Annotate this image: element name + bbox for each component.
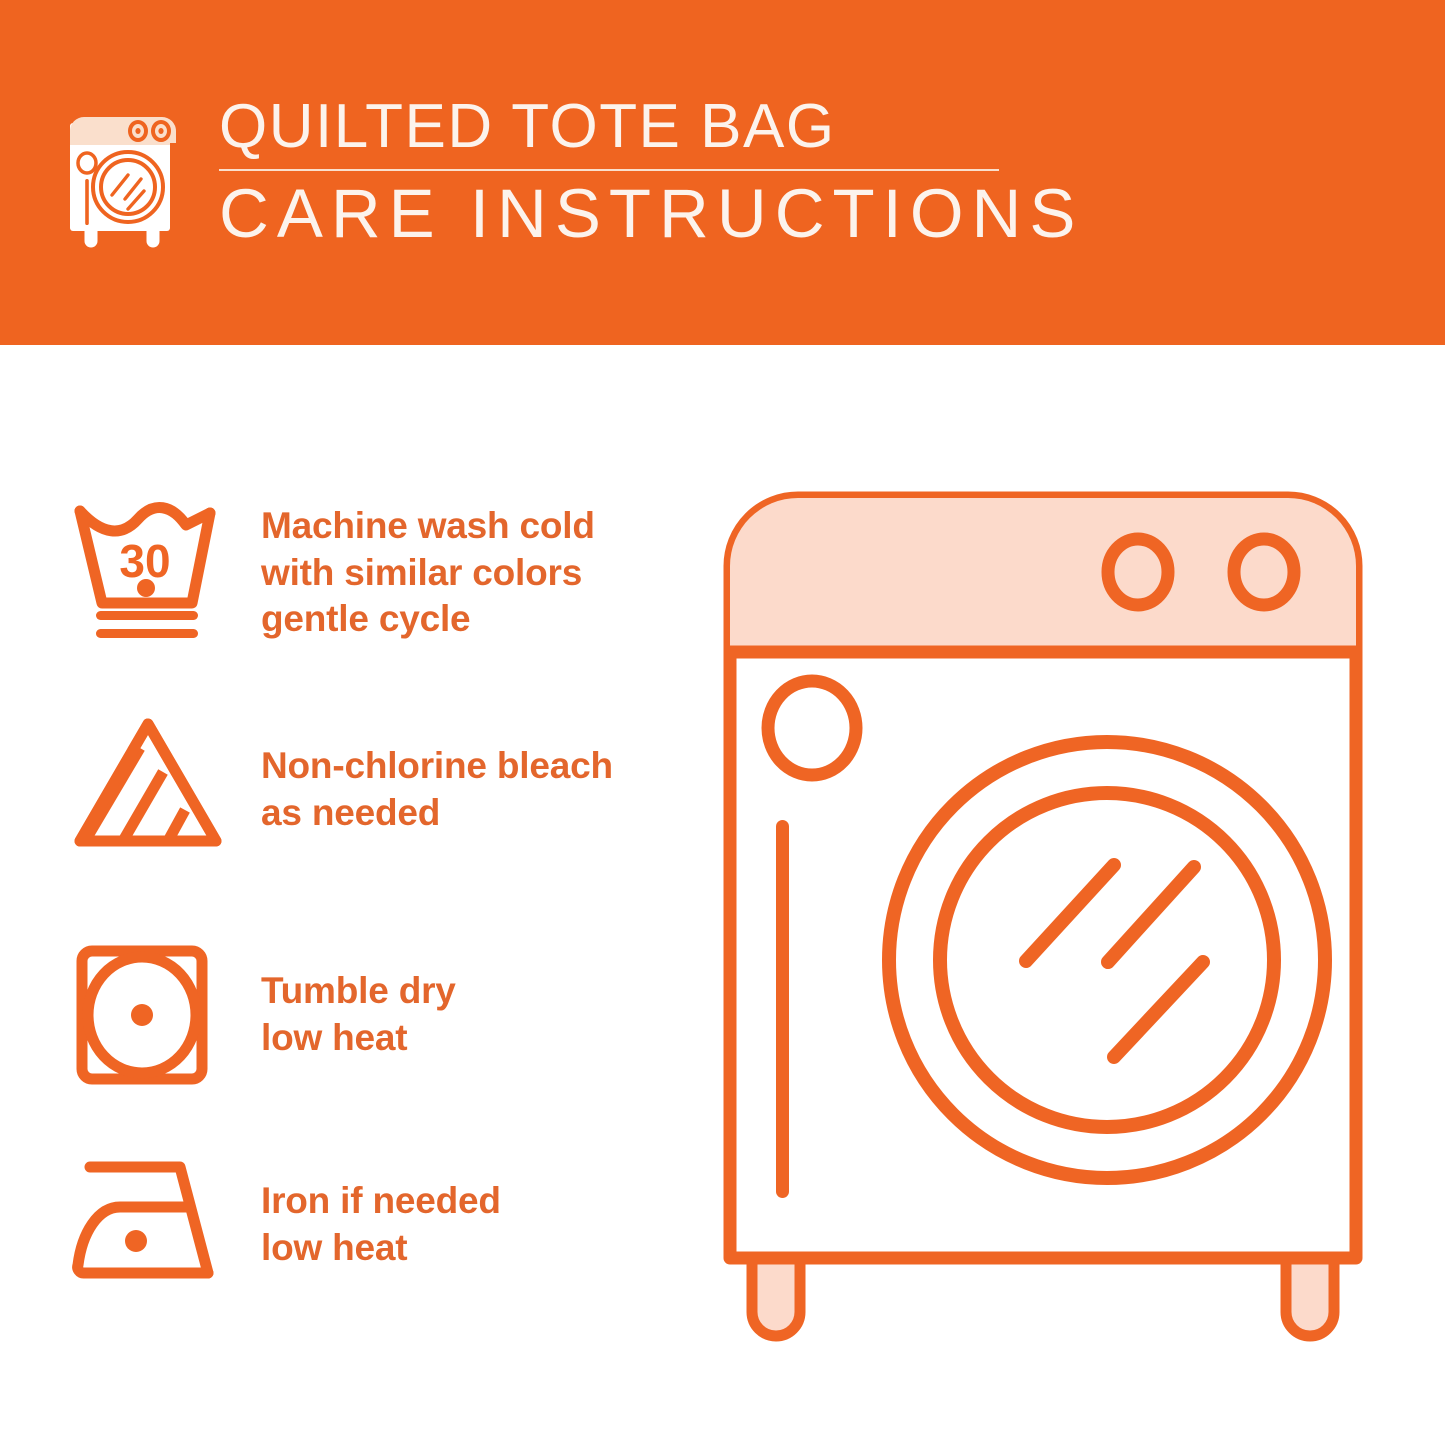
care-line: with similar colors xyxy=(261,550,595,597)
care-item-label: Non-chlorine bleach as needed xyxy=(261,743,613,837)
care-instructions-infographic: QUILTED TOTE BAG CARE INSTRUCTIONS 30 xyxy=(0,0,1445,1445)
care-line: low heat xyxy=(261,1225,501,1272)
care-line: Machine wash cold xyxy=(261,503,595,550)
washing-machine-illustration xyxy=(716,484,1406,1364)
leg-right xyxy=(1286,1254,1334,1336)
header-text-block: QUILTED TOTE BAG CARE INSTRUCTIONS xyxy=(219,95,1019,250)
machine-wash-basin-icon: 30 xyxy=(68,493,233,653)
title-divider xyxy=(219,169,999,171)
header-content: QUILTED TOTE BAG CARE INSTRUCTIONS xyxy=(62,95,1019,251)
care-line: Iron if needed xyxy=(261,1178,501,1225)
care-line: low heat xyxy=(261,1015,456,1062)
header-banner: QUILTED TOTE BAG CARE INSTRUCTIONS xyxy=(0,0,1445,345)
handle-line xyxy=(776,820,789,1198)
care-line: Non-chlorine bleach xyxy=(261,743,613,790)
page-title: QUILTED TOTE BAG xyxy=(219,95,1019,158)
care-item-tumble-dry: Tumble dry low heat xyxy=(68,935,688,1095)
iron-icon xyxy=(68,1145,233,1305)
care-item-label: Iron if needed low heat xyxy=(261,1178,501,1272)
washing-machine-icon xyxy=(62,101,184,251)
care-item-label: Machine wash cold with similar colors ge… xyxy=(261,503,595,644)
tumble-dry-icon xyxy=(68,935,233,1095)
leg-left xyxy=(752,1254,800,1336)
care-item-label: Tumble dry low heat xyxy=(261,968,456,1062)
care-line: Tumble dry xyxy=(261,968,456,1015)
care-instructions-list: 30 Machine wash cold with similar colors… xyxy=(0,345,690,1445)
non-chlorine-bleach-triangle-icon xyxy=(68,710,233,870)
care-item-bleach: Non-chlorine bleach as needed xyxy=(68,710,688,870)
care-line: gentle cycle xyxy=(261,596,595,643)
care-item-iron: Iron if needed low heat xyxy=(68,1145,688,1305)
control-panel xyxy=(730,498,1356,652)
page-subtitle: CARE INSTRUCTIONS xyxy=(219,179,1019,249)
care-line: as needed xyxy=(261,790,613,837)
care-item-machine-wash: 30 Machine wash cold with similar colors… xyxy=(68,493,688,653)
